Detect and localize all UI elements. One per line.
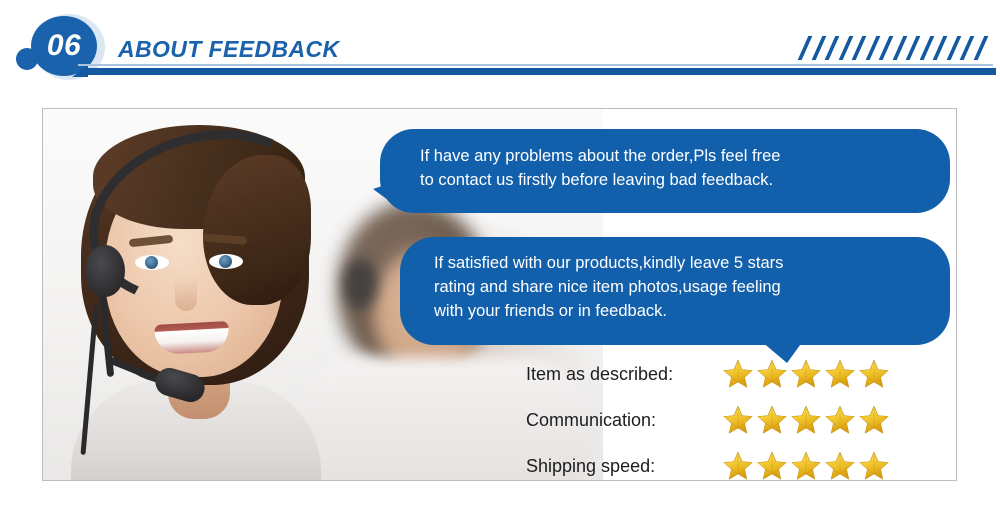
hatch-mark [800, 36, 814, 60]
gold-star-icon [790, 404, 822, 436]
gold-star-icon [722, 358, 754, 390]
rating-row: Item as described: [526, 354, 946, 394]
gold-star-icon [824, 450, 856, 481]
star-rating-shipping-speed [722, 450, 890, 481]
speech-bubble-order-problem: If have any problems about the order,Pls… [380, 129, 950, 213]
hatch-mark [854, 36, 868, 60]
star-rating-item-as-described [722, 358, 890, 390]
gold-star-icon [756, 404, 788, 436]
diagonal-hatch-icon [800, 36, 990, 60]
speech-bubble-satisfied-rating: If satisfied with our products,kindly le… [400, 237, 950, 345]
gold-star-icon [722, 404, 754, 436]
page-header: 06 ABOUT FEEDBACK [0, 0, 1000, 92]
background-person-headset [343, 259, 377, 309]
header-rule-thin [78, 64, 993, 66]
speech-bubble-text-1: If have any problems about the order,Pls… [420, 145, 924, 193]
gold-star-icon [790, 358, 822, 390]
ratings-list: Item as described: Communication: Shippi… [526, 354, 946, 481]
header-rule-thick [86, 68, 996, 75]
hatch-mark [976, 36, 990, 60]
hatch-mark [935, 36, 949, 60]
gold-star-icon [858, 404, 890, 436]
hatch-mark [881, 36, 895, 60]
feedback-panel: If have any problems about the order,Pls… [42, 108, 957, 481]
hatch-mark [827, 36, 841, 60]
hatch-mark [962, 36, 976, 60]
gold-star-icon [790, 450, 822, 481]
star-rating-communication [722, 404, 890, 436]
headset-earcup [85, 245, 125, 297]
gold-star-icon [858, 358, 890, 390]
gold-star-icon [858, 450, 890, 481]
rating-row: Shipping speed: [526, 446, 946, 481]
hatch-mark [908, 36, 922, 60]
speech-bubble-text-2: If satisfied with our products,kindly le… [434, 252, 924, 323]
gold-star-icon [824, 358, 856, 390]
gold-star-icon [756, 358, 788, 390]
gold-star-icon [824, 404, 856, 436]
rating-row: Communication: [526, 400, 946, 440]
gold-star-icon [756, 450, 788, 481]
gold-star-icon [722, 450, 754, 481]
page-title: ABOUT FEEDBACK [118, 36, 340, 63]
rating-label-item-as-described: Item as described: [526, 364, 722, 385]
rating-label-communication: Communication: [526, 410, 722, 431]
rating-label-shipping-speed: Shipping speed: [526, 456, 722, 477]
